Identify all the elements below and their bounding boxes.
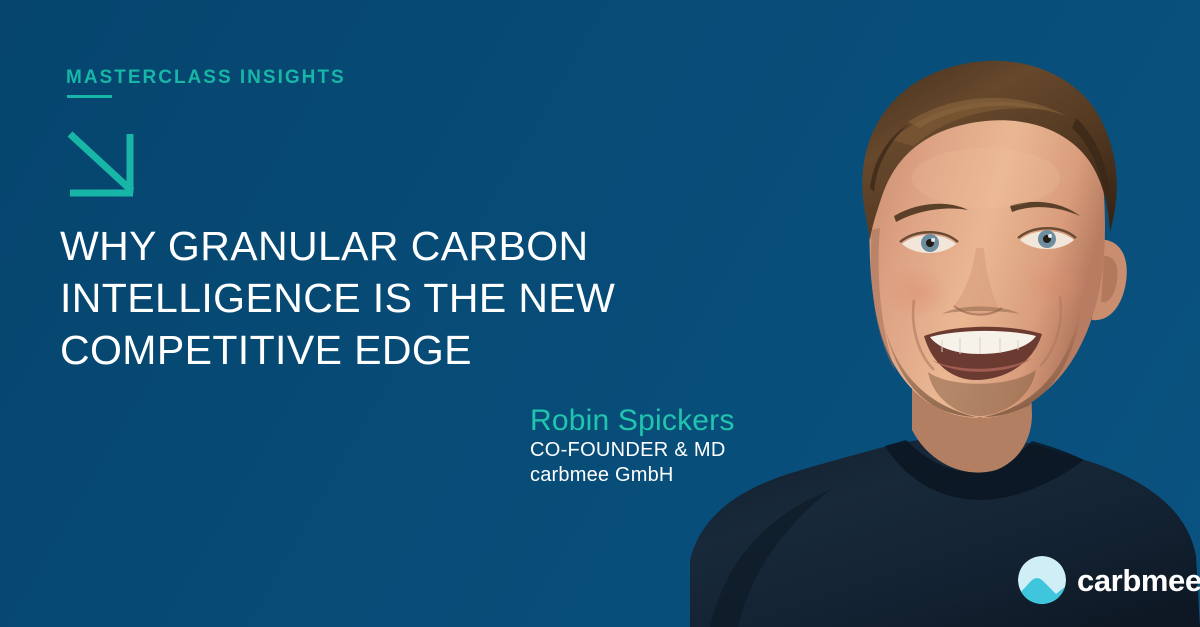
carbmee-logo-lockup: carbmee [1018, 556, 1200, 604]
arrow-down-right-icon [62, 122, 148, 206]
slide-content: MASTERCLASS INSIGHTS WHY GRANULAR CARBON… [60, 0, 680, 627]
speaker-organization: carbmee GmbH [530, 463, 830, 488]
headline-line-1: WHY GRANULAR CARBON [60, 220, 660, 272]
carbmee-wordmark: carbmee [1077, 565, 1200, 596]
speaker-role: CO-FOUNDER & MD [530, 438, 830, 463]
speaker-name: Robin Spickers [530, 404, 830, 438]
forehead-highlight [912, 148, 1060, 208]
headline-line-2: INTELLIGENCE IS THE NEW [60, 272, 660, 324]
cheek-left [882, 266, 950, 318]
page-title: WHY GRANULAR CARBON INTELLIGENCE IS THE … [60, 220, 660, 376]
cheek-right [1024, 261, 1088, 311]
eyebrow-label: MASTERCLASS INSIGHTS [66, 68, 346, 87]
eyebrow-underline [67, 95, 112, 98]
speaker-credit: Robin Spickers CO-FOUNDER & MD carbmee G… [530, 404, 830, 488]
masterclass-insights-slide: MASTERCLASS INSIGHTS WHY GRANULAR CARBON… [0, 0, 1200, 627]
speaker-portrait-photo [680, 0, 1200, 627]
carbmee-mountain-circle-icon [1018, 556, 1066, 604]
headline-line-3: COMPETITIVE EDGE [60, 324, 660, 376]
